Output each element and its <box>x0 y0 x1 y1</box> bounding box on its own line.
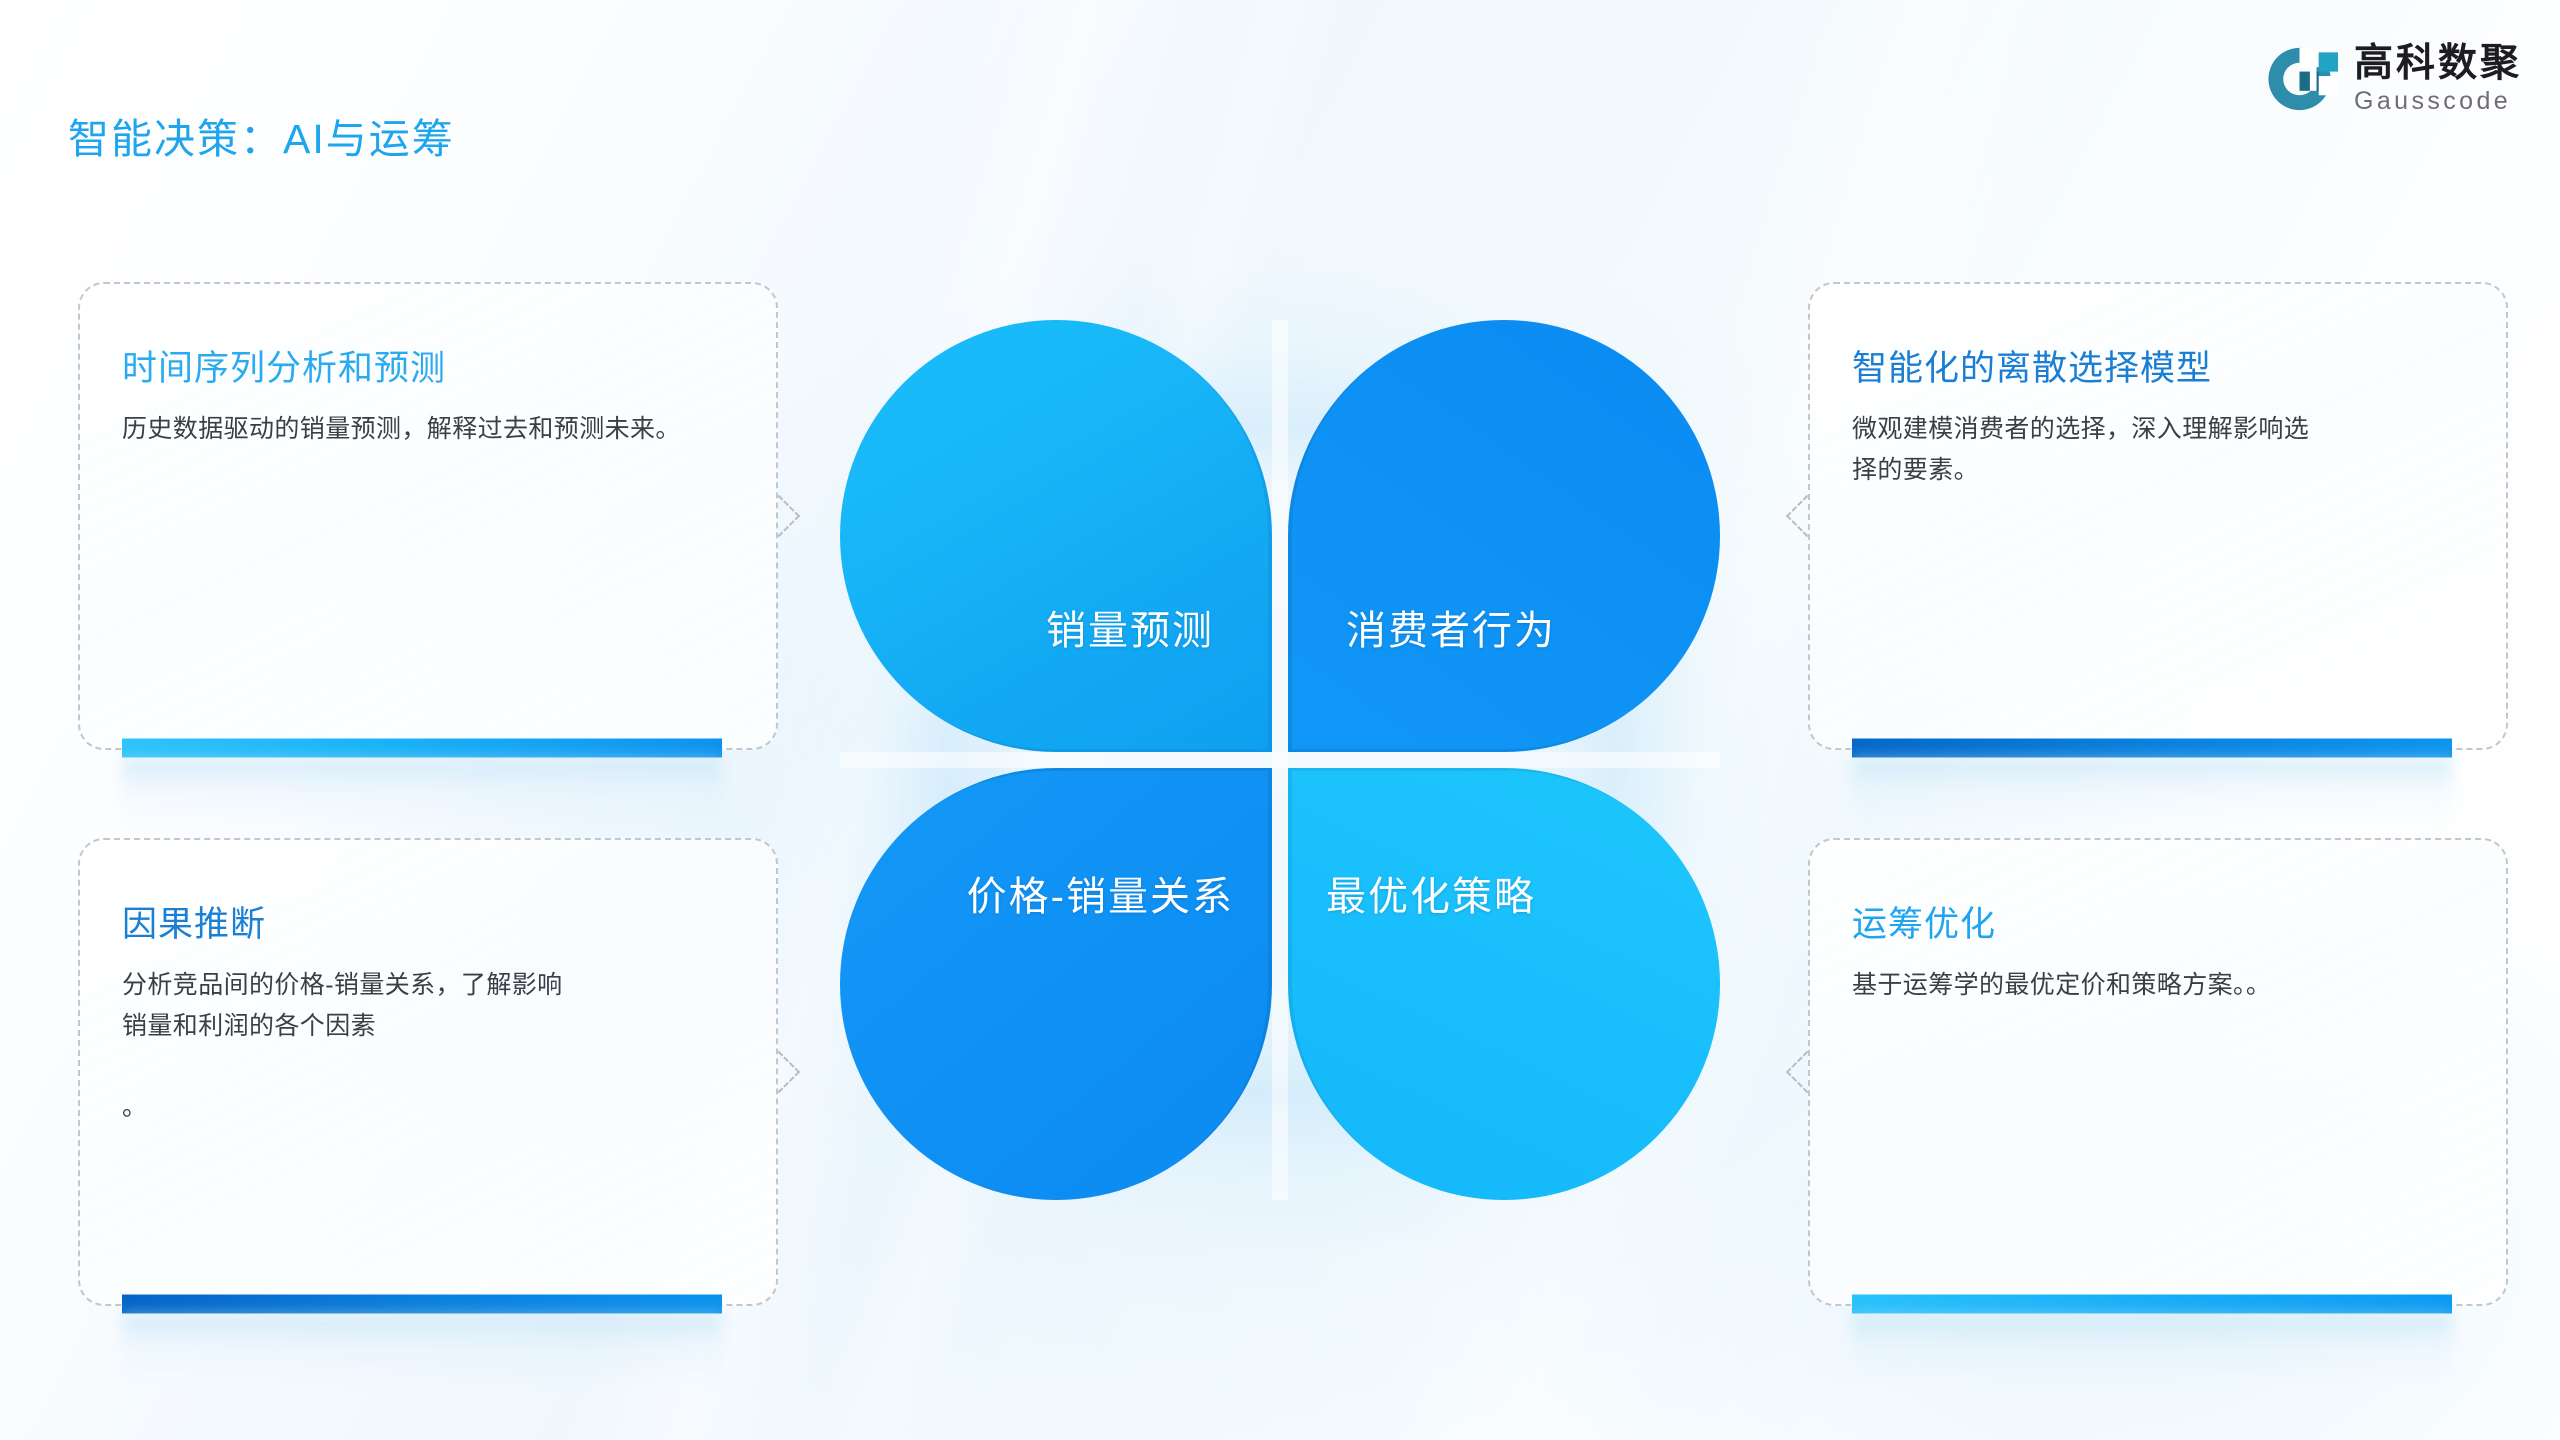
petal-price-sales-relation[interactable]: 价格-销量关系 <box>840 768 1272 1200</box>
card-accent-bar <box>122 739 722 758</box>
slide-header: 智能决策：AI与运筹 高科数聚 Gausscode <box>0 0 2560 180</box>
gausscode-logo-icon <box>2264 42 2338 116</box>
card-body: 历史数据驱动的销量预测，解释过去和预测未来。 <box>122 409 734 450</box>
petal-label: 销量预测 <box>1046 598 1214 656</box>
petal-shape <box>1288 320 1720 752</box>
card-accent-bar <box>1852 1295 2452 1314</box>
card-body: 分析竞品间的价格-销量关系，了解影响 销量和利润的各个因素 。 <box>122 965 734 1127</box>
logo-name-en: Gausscode <box>2354 89 2522 114</box>
petal-label: 最优化策略 <box>1326 864 1536 922</box>
petal-label: 价格-销量关系 <box>967 864 1234 922</box>
card-accent-bar <box>1852 739 2452 758</box>
info-card-causal-inference[interactable]: 因果推断 分析竞品间的价格-销量关系，了解影响 销量和利润的各个因素 。 <box>78 838 778 1306</box>
logo-name-cn: 高科数聚 <box>2354 44 2522 83</box>
card-accent-bar <box>122 1295 722 1314</box>
petal-shape <box>840 768 1272 1200</box>
info-card-time-series[interactable]: 时间序列分析和预测 历史数据驱动的销量预测，解释过去和预测未来。 <box>78 282 778 750</box>
card-title: 时间序列分析和预测 <box>122 340 734 391</box>
slide-canvas: 智能决策：AI与运筹 高科数聚 Gausscode 时间序列分析和预测 历史数据… <box>0 0 2560 1440</box>
card-title: 因果推断 <box>122 896 734 947</box>
info-card-operations-research[interactable]: 运筹优化 基于运筹学的最优定价和策略方案。。 <box>1808 838 2508 1306</box>
petal-consumer-behavior[interactable]: 消费者行为 <box>1288 320 1720 752</box>
petal-shape <box>1288 768 1720 1200</box>
petal-seam-horizontal <box>840 752 1720 768</box>
brand-logo: 高科数聚 Gausscode <box>2264 42 2522 116</box>
petal-label: 消费者行为 <box>1346 598 1556 656</box>
four-petal-diagram: 销量预测 消费者行为 价格-销量关系 最优化策略 <box>840 320 1720 1200</box>
info-card-discrete-choice[interactable]: 智能化的离散选择模型 微观建模消费者的选择，深入理解影响选 择的要素。 <box>1808 282 2508 750</box>
card-body: 微观建模消费者的选择，深入理解影响选 择的要素。 <box>1852 409 2464 490</box>
page-title: 智能决策：AI与运筹 <box>68 105 455 165</box>
card-title: 运筹优化 <box>1852 896 2464 947</box>
petal-sales-forecast[interactable]: 销量预测 <box>840 320 1272 752</box>
card-body: 基于运筹学的最优定价和策略方案。。 <box>1852 965 2464 1006</box>
chevron-right-icon <box>758 495 800 537</box>
petal-optimization-strategy[interactable]: 最优化策略 <box>1288 768 1720 1200</box>
chevron-right-icon <box>758 1051 800 1093</box>
petal-shape <box>840 320 1272 752</box>
logo-text: 高科数聚 Gausscode <box>2354 44 2522 114</box>
card-title: 智能化的离散选择模型 <box>1852 340 2464 391</box>
chevron-left-icon <box>1786 495 1828 537</box>
